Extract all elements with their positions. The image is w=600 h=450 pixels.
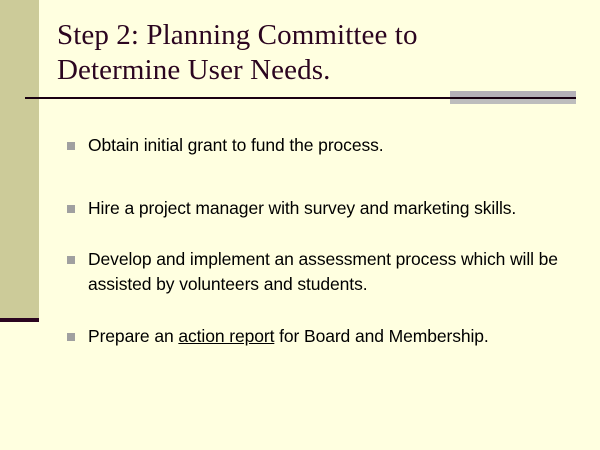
square-bullet-icon — [67, 333, 75, 341]
bullet-item-3-text: Develop and implement an assessment proc… — [88, 247, 567, 297]
left-accent-band — [0, 0, 39, 318]
bullet-item-2-text: Hire a project manager with survey and m… — [88, 196, 567, 221]
left-accent-band-cap — [0, 318, 39, 322]
square-bullet-icon — [67, 142, 75, 150]
bullet-1-text-before: Obtain initial grant to fund the process… — [88, 135, 384, 155]
bullet-spacer-1 — [67, 158, 567, 196]
square-bullet-icon — [67, 256, 75, 264]
bullet-spacer-3 — [67, 297, 567, 324]
bullet-2-text-before: Hire a project manager with survey and m… — [88, 198, 516, 218]
bullet-list: Obtain initial grant to fund the process… — [67, 133, 567, 349]
bullet-item-4-text: Prepare an action report for Board and M… — [88, 324, 567, 349]
title-divider-rule — [25, 97, 576, 99]
square-bullet-icon — [67, 205, 75, 213]
list-item: Hire a project manager with survey and m… — [67, 196, 567, 221]
list-item: Develop and implement an assessment proc… — [67, 247, 567, 297]
bullet-4-text-before: Prepare an — [88, 326, 178, 346]
slide-canvas: Step 2: Planning Committee to Determine … — [0, 0, 600, 450]
list-item: Obtain initial grant to fund the process… — [67, 133, 567, 158]
bullet-4-underlined-phrase: action report — [178, 326, 274, 346]
bullet-item-1-text: Obtain initial grant to fund the process… — [88, 133, 567, 158]
bullet-4-text-after: for Board and Membership. — [274, 326, 488, 346]
bullet-3-text-before: Develop and implement an assessment proc… — [88, 249, 558, 294]
list-item: Prepare an action report for Board and M… — [67, 324, 567, 349]
bullet-spacer-2 — [67, 221, 567, 247]
slide-title: Step 2: Planning Committee to Determine … — [57, 18, 537, 88]
